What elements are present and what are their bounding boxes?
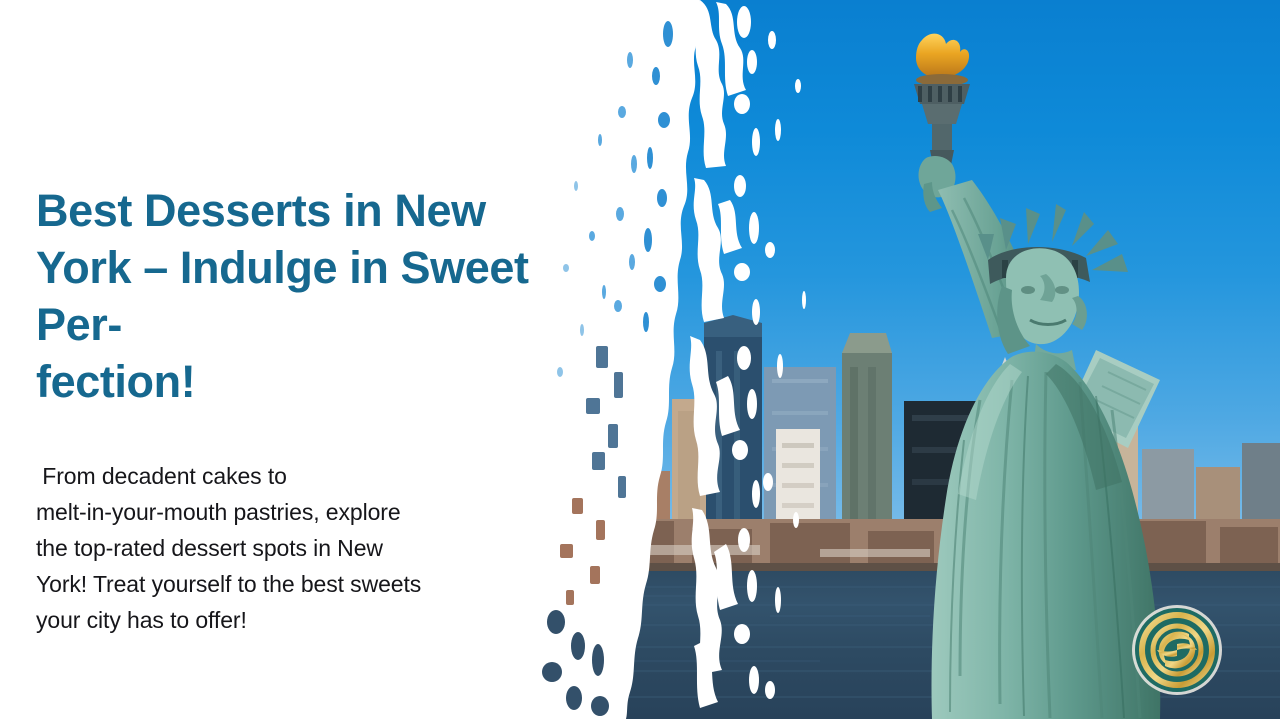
page-title: Best Desserts in New York – Indulge in S… [36, 182, 576, 410]
brand-monogram-icon[interactable] [1131, 604, 1223, 696]
torch-flame [916, 34, 969, 78]
description-text: From decadent cakes to melt-in-your-mout… [36, 410, 576, 638]
promotional-banner: Best Desserts in New York – Indulge in S… [0, 0, 1280, 719]
text-content: Best Desserts in New York – Indulge in S… [36, 182, 576, 638]
brand-logo[interactable] [1131, 604, 1223, 696]
